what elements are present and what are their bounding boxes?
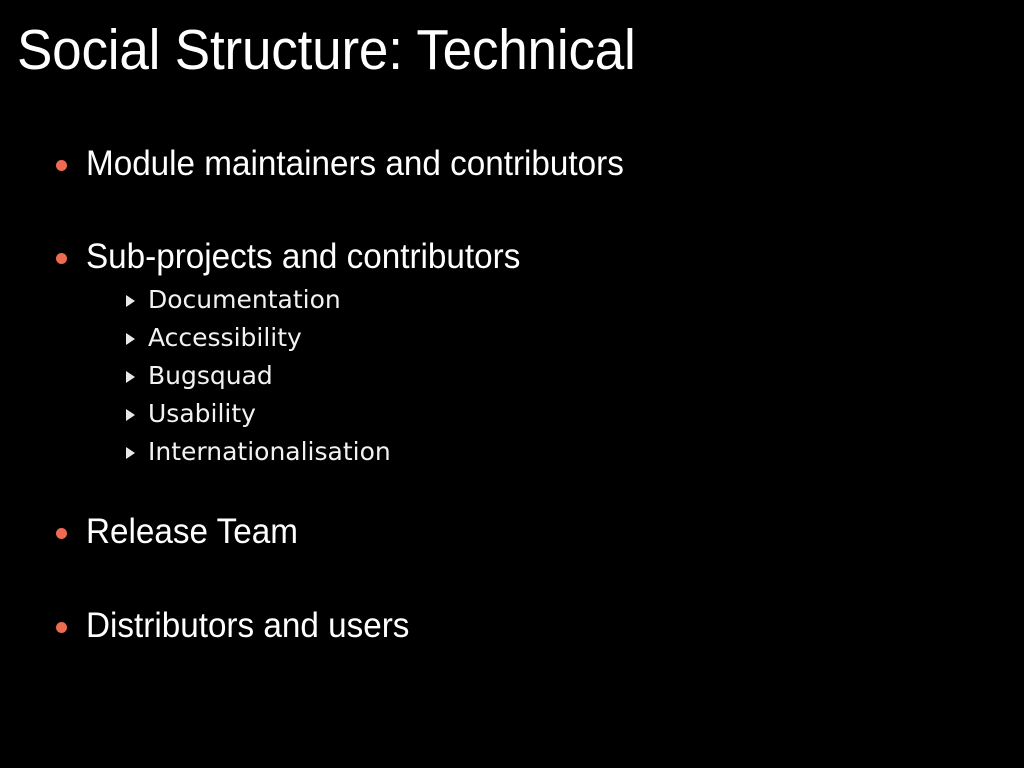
sub-bullet-label: Documentation	[148, 285, 341, 314]
filled-circle-icon	[56, 253, 67, 264]
bullet-label: Sub-projects and contributors	[86, 237, 520, 277]
sub-bullet-item: Documentation	[126, 285, 341, 314]
sub-bullet-label: Bugsquad	[148, 361, 273, 390]
bullet-item: Release Team	[56, 512, 309, 552]
triangle-right-icon	[126, 295, 135, 307]
sub-bullet-item: Internationalisation	[126, 437, 391, 466]
filled-circle-icon	[56, 160, 67, 171]
sub-bullet-label: Internationalisation	[148, 437, 391, 466]
triangle-right-icon	[126, 371, 135, 383]
bullet-item: Distributors and users	[56, 606, 426, 646]
bullet-item: Sub-projects and contributors	[56, 237, 543, 277]
filled-circle-icon	[56, 622, 67, 633]
bullet-item: Module maintainers and contributors	[56, 144, 652, 184]
sub-bullet-item: Usability	[126, 399, 256, 428]
bullet-label: Module maintainers and contributors	[86, 144, 624, 184]
sub-bullet-item: Bugsquad	[126, 361, 273, 390]
sub-bullet-label: Accessibility	[148, 323, 302, 352]
slide-outline-body: Module maintainers and contributors Sub-…	[0, 0, 1024, 768]
triangle-right-icon	[126, 333, 135, 345]
bullet-label: Distributors and users	[86, 606, 409, 646]
bullet-label: Release Team	[86, 512, 298, 552]
sub-bullet-label: Usability	[148, 399, 256, 428]
sub-bullet-item: Accessibility	[126, 323, 302, 352]
presentation-slide: Social Structure: Technical Module maint…	[0, 0, 1024, 768]
triangle-right-icon	[126, 409, 135, 421]
filled-circle-icon	[56, 528, 67, 539]
triangle-right-icon	[126, 447, 135, 459]
